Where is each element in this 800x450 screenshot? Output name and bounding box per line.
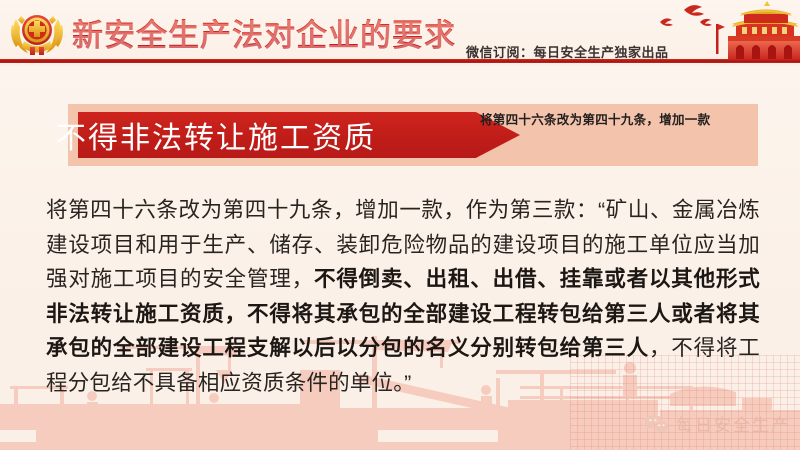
- section-title: 不得非法转让施工资质: [28, 104, 448, 166]
- safety-production-emblem-icon: [8, 7, 66, 57]
- wechat-icon: [644, 414, 670, 434]
- flying-doves-icon: [660, 5, 712, 26]
- body-paragraph: 将第四十六条改为第四十九条，增加一款，作为第三款：“矿山、金属冶炼建设项目和用于…: [46, 193, 760, 400]
- wechat-label: 每日安全生产: [676, 411, 790, 436]
- tiananmen-gate-icon: [640, 0, 800, 62]
- section-note: 将第四十六条改为第四十九条，增加一款: [480, 112, 742, 129]
- header-divider: [0, 59, 800, 63]
- slide-canvas: 新安全生产法对企业的要求 微信订阅：每日安全生产独家出品: [0, 0, 800, 450]
- page-title: 新安全生产法对企业的要求: [72, 10, 456, 55]
- wechat-brand: 每日安全生产: [644, 411, 790, 436]
- slide-header: 新安全生产法对企业的要求 微信订阅：每日安全生产独家出品: [0, 0, 800, 66]
